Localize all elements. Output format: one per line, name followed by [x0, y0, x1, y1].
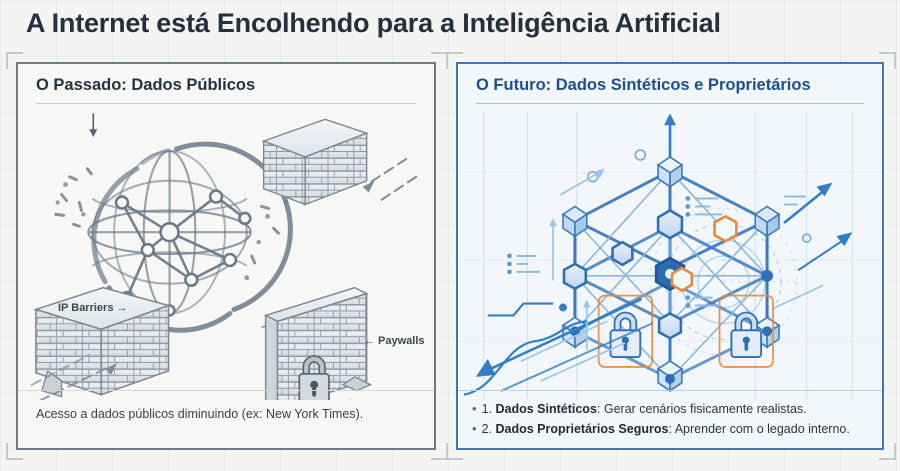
flow-arrowheads: [476, 113, 852, 377]
right-panel-footer: •1. Dados Sintéticos: Gerar cenários fis…: [458, 390, 882, 448]
right-illustration: [458, 110, 882, 400]
future-list: •1. Dados Sintéticos: Gerar cenários fis…: [468, 399, 850, 439]
annotation-paywalls: ← Paywalls: [364, 335, 425, 347]
list-item: •2. Dados Proprietários Seguros: Aprende…: [468, 419, 850, 439]
left-panel-footer: Acesso a dados públicos diminuindo (ex: …: [18, 390, 434, 448]
panel-future: O Futuro: Dados Sintéticos e Proprietári…: [456, 62, 884, 450]
left-caption: Acesso a dados públicos diminuindo (ex: …: [36, 407, 363, 421]
brick-wall-top-right: [264, 119, 367, 204]
brick-wall-center: [262, 288, 371, 400]
panel-past: O Passado: Dados Públicos: [16, 62, 436, 450]
right-panel-header: O Futuro: Dados Sintéticos e Proprietári…: [476, 76, 864, 104]
list-label: Dados Sintéticos: [495, 402, 596, 416]
list-item: •1. Dados Sintéticos: Gerar cenários fis…: [468, 399, 850, 419]
right-panel-heading: O Futuro: Dados Sintéticos e Proprietári…: [476, 76, 864, 95]
left-header-divider: [36, 103, 416, 104]
list-text: : Gerar cenários fisicamente realistas.: [597, 402, 807, 416]
list-text: : Aprender com o legado interno.: [668, 422, 849, 436]
left-panel-header: O Passado: Dados Públicos: [36, 76, 416, 104]
list-number: 1.: [482, 402, 492, 416]
page-title: A Internet está Encolhendo para a Inteli…: [26, 8, 721, 39]
list-label: Dados Proprietários Seguros: [495, 422, 668, 436]
list-bullet: •: [468, 401, 482, 416]
annotation-dots: [507, 196, 690, 308]
list-number: 2.: [482, 422, 492, 436]
left-panel-heading: O Passado: Dados Públicos: [36, 76, 416, 95]
annotation-ip-barriers: IP Barriers →: [58, 302, 128, 314]
left-illustration: [18, 110, 434, 400]
list-bullet: •: [468, 421, 482, 436]
right-header-divider: [476, 103, 864, 104]
